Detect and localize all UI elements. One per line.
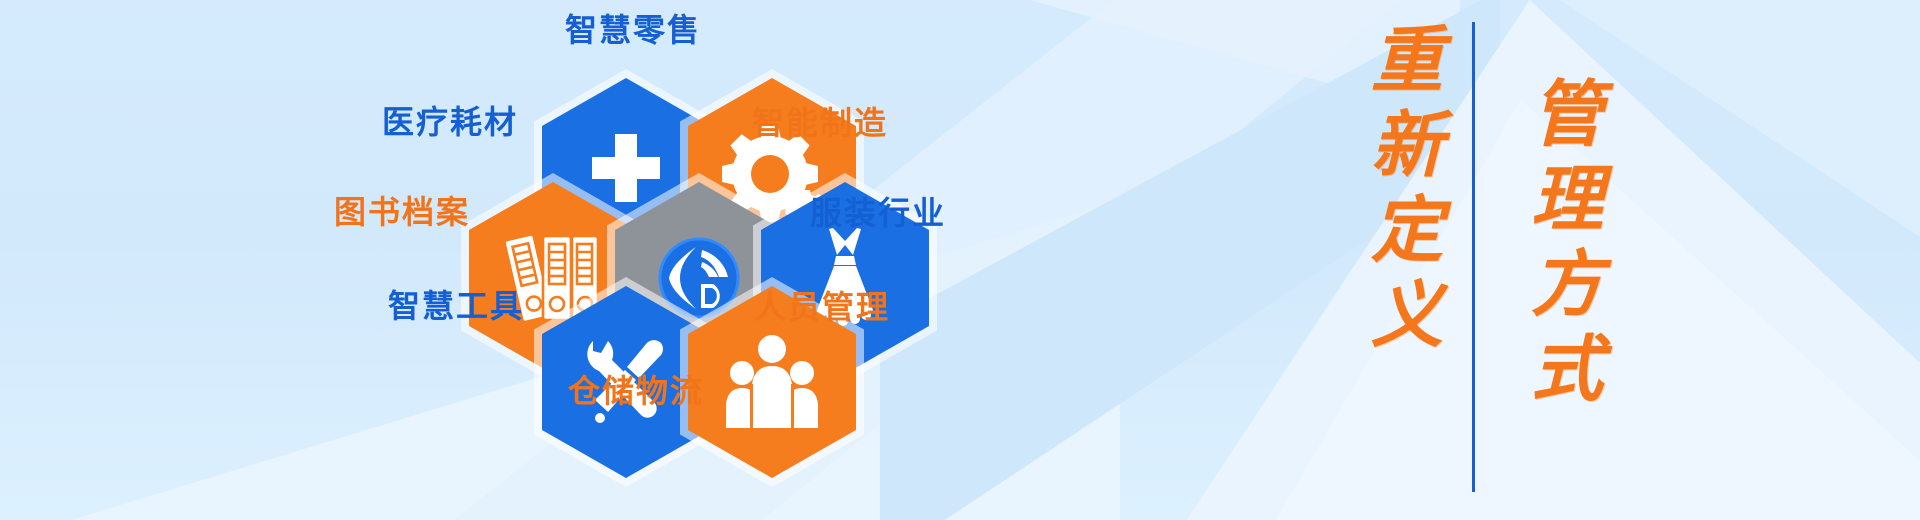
hex-label-manufacturing: 智能制造 [752,107,888,139]
vertical-divider [1472,22,1475,492]
calligraphy-char-4: 义 [1352,273,1462,358]
hex-label-tools: 智慧工具 [388,290,524,322]
calligraphy-block: 重 新 定 义 管 理 方 式 [1300,0,1640,520]
hex-label-warehouse-logistics: 仓储物流 [568,375,704,407]
calligraphy-char-2: 新 [1352,103,1462,188]
hexagon-industry-banner: 智慧零售 [0,0,1920,520]
calligraphy-char-1: 重 [1352,18,1462,103]
calligraphy-char-8: 式 [1512,327,1622,412]
calligraphy-char-5: 管 [1512,72,1622,157]
people-group-icon [720,332,824,432]
calligraphy-column-left: 重 新 定 义 [1352,18,1462,358]
hex-label-personnel: 人员管理 [754,291,890,323]
calligraphy-char-6: 理 [1512,157,1622,242]
calligraphy-char-3: 定 [1352,188,1462,273]
calligraphy-column-right: 管 理 方 式 [1512,72,1622,412]
hex-label-apparel: 服装行业 [810,197,946,229]
hex-label-archives: 图书档案 [334,196,470,228]
calligraphy-char-7: 方 [1512,242,1622,327]
hex-label-medical: 医疗耗材 [382,106,518,138]
hex-label-smart-retail: 智慧零售 [565,14,701,46]
